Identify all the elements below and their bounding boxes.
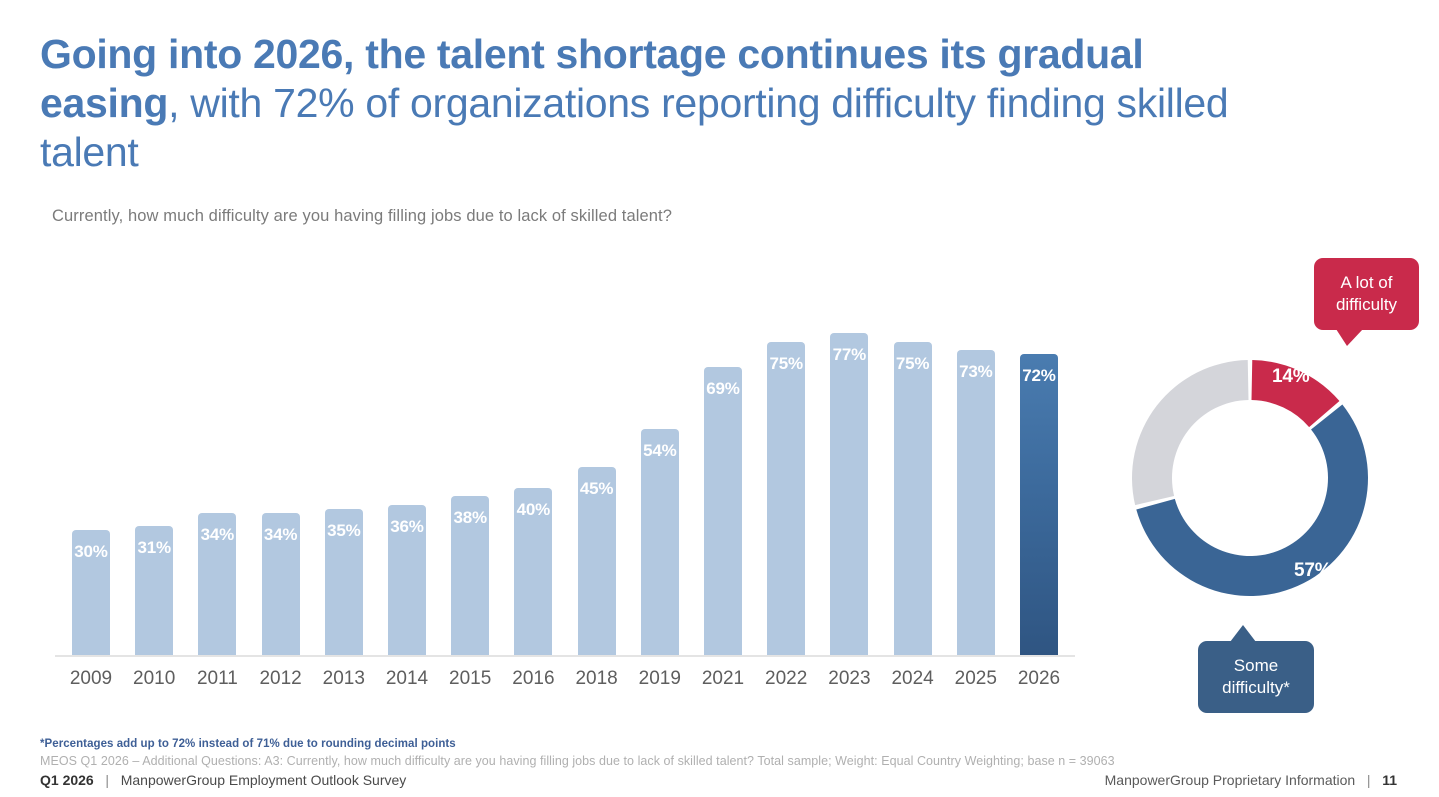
bar-category-label: 2014 <box>379 668 435 690</box>
bar-value-label: 45% <box>574 479 620 499</box>
bar-value-label: 75% <box>763 354 809 374</box>
bar-category-label: 2010 <box>126 668 182 690</box>
bar-category-label: 2011 <box>189 668 245 690</box>
bar-value-label: 35% <box>321 521 367 541</box>
bar <box>704 367 742 655</box>
bar-category-label: 2026 <box>1011 668 1067 690</box>
bar-column: 35%2013 <box>325 300 363 655</box>
donut-slice <box>1132 360 1249 505</box>
callout-tail-icon <box>1336 329 1363 346</box>
bar-column: 30%2009 <box>72 300 110 655</box>
bar-category-label: 2019 <box>632 668 688 690</box>
bar-column: 54%2019 <box>641 300 679 655</box>
footer-left: Q1 2026 | ManpowerGroup Employment Outlo… <box>40 772 406 788</box>
bar-category-label: 2012 <box>253 668 309 690</box>
bar-category-label: 2024 <box>885 668 941 690</box>
bar-value-label: 54% <box>637 441 683 461</box>
bar-category-label: 2013 <box>316 668 372 690</box>
bar-highlighted <box>1020 354 1058 655</box>
bar-value-label: 72% <box>1016 366 1062 386</box>
bar-plot-area: 30%200931%201034%201134%201235%201336%20… <box>55 300 1075 655</box>
donut-label-a-lot: 14% <box>1272 366 1309 388</box>
footer-separator: | <box>94 772 121 788</box>
bar-value-label: 36% <box>384 517 430 537</box>
footer-quarter: Q1 2026 <box>40 772 94 788</box>
bar <box>767 342 805 655</box>
page-title-regular: , with 72% of organizations reporting di… <box>40 80 1228 175</box>
page-title: Going into 2026, the talent shortage con… <box>40 30 1290 177</box>
bar-column: 73%2025 <box>957 300 995 655</box>
footer-proprietary: ManpowerGroup Proprietary Information <box>1105 772 1356 788</box>
donut-chart: 14% 57% A lot of difficulty Some difficu… <box>1120 250 1439 730</box>
bar <box>894 342 932 655</box>
callout-some-line2: difficulty* <box>1222 677 1290 699</box>
bar <box>957 350 995 655</box>
callout-a-lot-of-difficulty: A lot of difficulty <box>1314 258 1419 330</box>
bar-category-label: 2015 <box>442 668 498 690</box>
bar-category-label: 2009 <box>63 668 119 690</box>
footer-survey-name: ManpowerGroup Employment Outlook Survey <box>121 772 407 788</box>
bar-column: 69%2021 <box>704 300 742 655</box>
bar-value-label: 34% <box>258 525 304 545</box>
bar-value-label: 77% <box>826 345 872 365</box>
bar-category-label: 2025 <box>948 668 1004 690</box>
bar-value-label: 38% <box>447 508 493 528</box>
bar-category-label: 2023 <box>821 668 877 690</box>
bar <box>641 429 679 655</box>
bar-column: 38%2015 <box>451 300 489 655</box>
bar-value-label: 40% <box>510 500 556 520</box>
bar-axis-line <box>55 655 1075 657</box>
bar-column: 77%2023 <box>830 300 868 655</box>
bar-category-label: 2018 <box>569 668 625 690</box>
bar-column: 36%2014 <box>388 300 426 655</box>
footer-separator: | <box>1355 772 1382 788</box>
footer-right: ManpowerGroup Proprietary Information | … <box>1105 772 1397 788</box>
bar-category-label: 2022 <box>758 668 814 690</box>
bar-value-label: 69% <box>700 379 746 399</box>
bar-value-label: 75% <box>890 354 936 374</box>
bar-category-label: 2016 <box>505 668 561 690</box>
bar-column: 45%2018 <box>578 300 616 655</box>
bar-column: 72%2026 <box>1020 300 1058 655</box>
bar-column: 31%2010 <box>135 300 173 655</box>
bar-column: 34%2011 <box>198 300 236 655</box>
callout-tail-icon <box>1230 625 1256 642</box>
donut-label-some: 57% <box>1294 560 1331 582</box>
bar-value-label: 34% <box>194 525 240 545</box>
callout-a-lot-line2: difficulty <box>1336 294 1397 316</box>
callout-some-difficulty: Some difficulty* <box>1198 641 1314 713</box>
bar-column: 40%2016 <box>514 300 552 655</box>
survey-question: Currently, how much difficulty are you h… <box>52 207 672 226</box>
callout-a-lot-line1: A lot of <box>1336 272 1397 294</box>
bar-value-label: 30% <box>68 542 114 562</box>
bar-category-label: 2021 <box>695 668 751 690</box>
page-number: 11 <box>1382 772 1397 788</box>
footnote-rounding: *Percentages add up to 72% instead of 71… <box>40 738 456 750</box>
bar-column: 75%2022 <box>767 300 805 655</box>
bar <box>830 333 868 655</box>
bar-chart: 30%200931%201034%201134%201235%201336%20… <box>55 300 1075 700</box>
bar-column: 34%2012 <box>262 300 300 655</box>
callout-some-line1: Some <box>1222 655 1290 677</box>
footnote-source: MEOS Q1 2026 – Additional Questions: A3:… <box>40 754 1115 768</box>
bar-value-label: 73% <box>953 362 999 382</box>
bar-value-label: 31% <box>131 538 177 558</box>
bar-column: 75%2024 <box>894 300 932 655</box>
